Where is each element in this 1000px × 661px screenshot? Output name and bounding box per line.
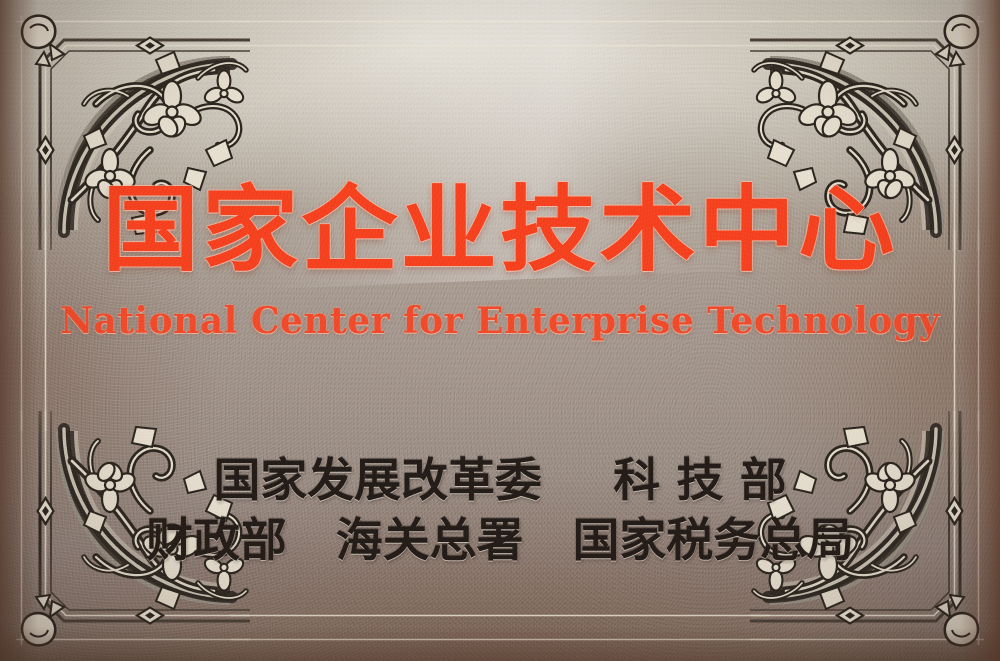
- award-plaque: 国家企业技术中心 National Center for Enterprise …: [0, 0, 1000, 661]
- agency-most: 科 技 部: [613, 453, 786, 507]
- issuing-agencies-line-2: 财政部 海关总署 国家税务总局: [0, 512, 1000, 568]
- agency-sat: 国家税务总局: [572, 513, 854, 567]
- agency-mof: 财政部: [146, 513, 287, 567]
- agency-ndrc: 国家发展改革委: [213, 453, 541, 507]
- issuing-agencies-line-1: 国家发展改革委 科 技 部: [0, 452, 1000, 508]
- plaque-title-english: National Center for Enterprise Technolog…: [0, 300, 1000, 342]
- plaque-title-chinese: 国家企业技术中心: [0, 176, 1000, 284]
- plaque-content: 国家企业技术中心 National Center for Enterprise …: [0, 0, 1000, 661]
- agency-gac: 海关总署: [336, 513, 524, 567]
